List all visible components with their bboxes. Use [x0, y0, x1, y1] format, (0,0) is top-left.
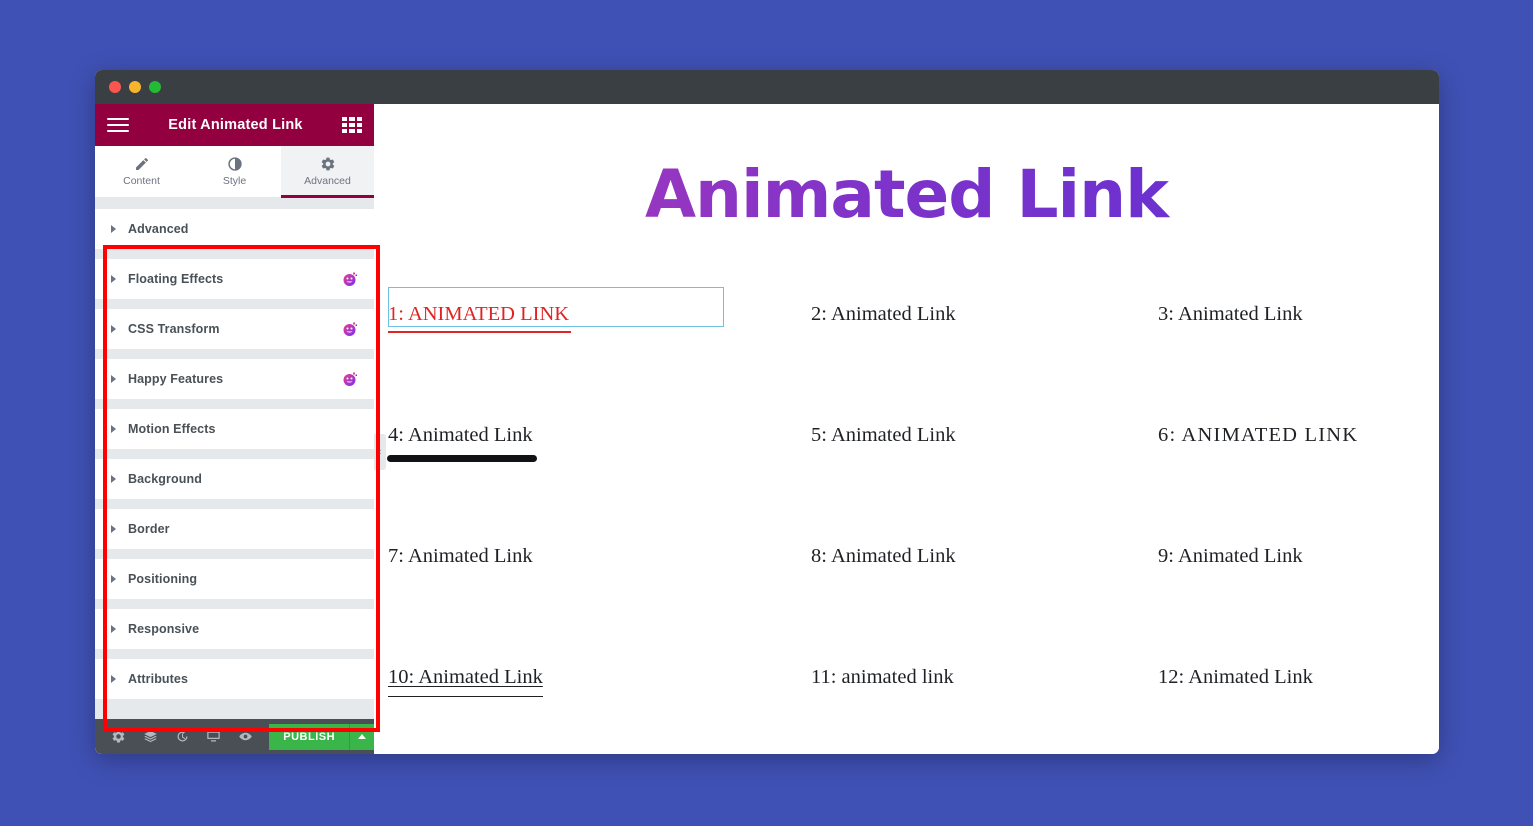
chevron-right-icon	[111, 225, 116, 233]
animated-link-4[interactable]: 4: Animated Link	[388, 424, 533, 447]
panel-header: Edit Animated Link	[95, 104, 374, 146]
happy-addons-icon	[342, 321, 358, 337]
animated-link-11[interactable]: 11: animated link	[811, 666, 954, 689]
chevron-right-icon	[111, 425, 116, 433]
animated-link-cell-10: 10: Animated Link	[388, 666, 735, 712]
animated-link-cell-1: 1: ANIMATED LINK	[388, 303, 735, 349]
sidebar-item-happy-features[interactable]: Happy Features	[95, 359, 374, 399]
animated-link-cell-7: 7: Animated Link	[388, 545, 735, 591]
tab-content-label: Content	[123, 175, 160, 187]
panel-footer: PUBLISH	[95, 719, 374, 754]
sidebar-item-label: Happy Features	[128, 372, 223, 386]
animated-link-3[interactable]: 3: Animated Link	[1158, 303, 1303, 326]
animated-link-1[interactable]: 1: ANIMATED LINK	[388, 303, 569, 326]
window-titlebar	[95, 70, 1439, 104]
animated-link-cell-9: 9: Animated Link	[1082, 545, 1429, 591]
animated-link-cell-2: 2: Animated Link	[735, 303, 1082, 349]
chevron-up-icon	[358, 734, 366, 739]
sidebar-item-label: Positioning	[128, 572, 197, 586]
sidebar-item-attributes[interactable]: Attributes	[95, 659, 374, 699]
animated-link-6[interactable]: 6: ANIMATED LINK	[1158, 424, 1358, 447]
sidebar-item-floating-effects[interactable]: Floating Effects	[95, 259, 374, 299]
animated-link-9[interactable]: 9: Animated Link	[1158, 545, 1303, 568]
sidebar-item-label: CSS Transform	[128, 322, 220, 336]
chevron-right-icon	[111, 375, 116, 383]
history-icon[interactable]	[166, 719, 198, 754]
animated-link-cell-6: 6: ANIMATED LINK	[1082, 424, 1429, 470]
chevron-right-icon	[111, 625, 116, 633]
tab-advanced-label: Advanced	[304, 175, 351, 187]
sidebar-item-label: Attributes	[128, 672, 188, 686]
minimize-window-button[interactable]	[129, 81, 141, 93]
animated-link-8[interactable]: 8: Animated Link	[811, 545, 956, 568]
contrast-icon	[227, 156, 243, 172]
chevron-right-icon	[111, 275, 116, 283]
tab-advanced[interactable]: Advanced	[281, 146, 374, 197]
animated-link-cell-3: 3: Animated Link	[1082, 303, 1429, 349]
browser-window: Edit Animated Link Content Style	[95, 70, 1439, 754]
gear-icon	[320, 156, 336, 172]
panel-collapse-handle[interactable]: ‹	[374, 434, 386, 470]
animated-link-cell-8: 8: Animated Link	[735, 545, 1082, 591]
chevron-right-icon	[111, 475, 116, 483]
sidebar-item-label: Background	[128, 472, 202, 486]
happy-addons-icon	[342, 371, 358, 387]
sidebar-item-label: Responsive	[128, 622, 199, 636]
preview-icon[interactable]	[230, 719, 262, 754]
tab-style-label: Style	[223, 175, 246, 187]
chevron-right-icon	[111, 675, 116, 683]
sidebar-item-label: Motion Effects	[128, 422, 216, 436]
canvas-heading: Animated Link	[374, 156, 1439, 233]
panel-tabs: Content Style Advanced	[95, 146, 374, 198]
editor-canvas: Animated Link 1: ANIMATED LINK 2: Animat…	[374, 104, 1439, 754]
animated-link-5[interactable]: 5: Animated Link	[811, 424, 956, 447]
publish-button[interactable]: PUBLISH	[269, 724, 349, 750]
animated-link-cell-5: 5: Animated Link	[735, 424, 1082, 470]
sidebar-item-css-transform[interactable]: CSS Transform	[95, 309, 374, 349]
sidebar-item-motion-effects[interactable]: Motion Effects	[95, 409, 374, 449]
navigator-icon[interactable]	[135, 719, 167, 754]
sidebar-item-positioning[interactable]: Positioning	[95, 559, 374, 599]
tab-content[interactable]: Content	[95, 146, 188, 197]
sidebar-item-responsive[interactable]: Responsive	[95, 609, 374, 649]
close-window-button[interactable]	[109, 81, 121, 93]
animated-link-12[interactable]: 12: Animated Link	[1158, 666, 1313, 689]
tab-style[interactable]: Style	[188, 146, 281, 197]
animated-link-grid: 1: ANIMATED LINK 2: Animated Link 3: Ani…	[374, 303, 1439, 712]
pencil-icon	[134, 156, 150, 172]
happy-addons-icon	[342, 271, 358, 287]
publish-options-button[interactable]	[349, 724, 374, 750]
animated-link-cell-11: 11: animated link	[735, 666, 1082, 712]
elementor-panel: Edit Animated Link Content Style	[95, 104, 374, 754]
hamburger-icon[interactable]	[107, 118, 129, 132]
sidebar-item-background[interactable]: Background	[95, 459, 374, 499]
sidebar-item-advanced[interactable]: Advanced	[95, 209, 374, 249]
sidebar-item-label: Advanced	[128, 222, 189, 236]
window-body: Edit Animated Link Content Style	[95, 104, 1439, 754]
chevron-left-icon: ‹	[378, 446, 382, 458]
animated-link-cell-12: 12: Animated Link	[1082, 666, 1429, 712]
animated-link-2[interactable]: 2: Animated Link	[811, 303, 956, 326]
panel-section-list: Advanced Floating Effects CSS Transform	[95, 209, 374, 719]
animated-link-cell-4: 4: Animated Link	[388, 424, 735, 470]
animated-link-10[interactable]: 10: Animated Link	[388, 666, 543, 689]
maximize-window-button[interactable]	[149, 81, 161, 93]
chevron-right-icon	[111, 525, 116, 533]
chevron-right-icon	[111, 325, 116, 333]
grid-icon[interactable]	[342, 117, 362, 133]
responsive-mode-icon[interactable]	[198, 719, 230, 754]
sidebar-item-label: Border	[128, 522, 170, 536]
page-title: Edit Animated Link	[129, 117, 342, 133]
settings-icon[interactable]	[103, 719, 135, 754]
chevron-right-icon	[111, 575, 116, 583]
panel-tab-divider	[95, 198, 374, 209]
sidebar-item-label: Floating Effects	[128, 272, 223, 286]
sidebar-item-border[interactable]: Border	[95, 509, 374, 549]
animated-link-7[interactable]: 7: Animated Link	[388, 545, 533, 568]
